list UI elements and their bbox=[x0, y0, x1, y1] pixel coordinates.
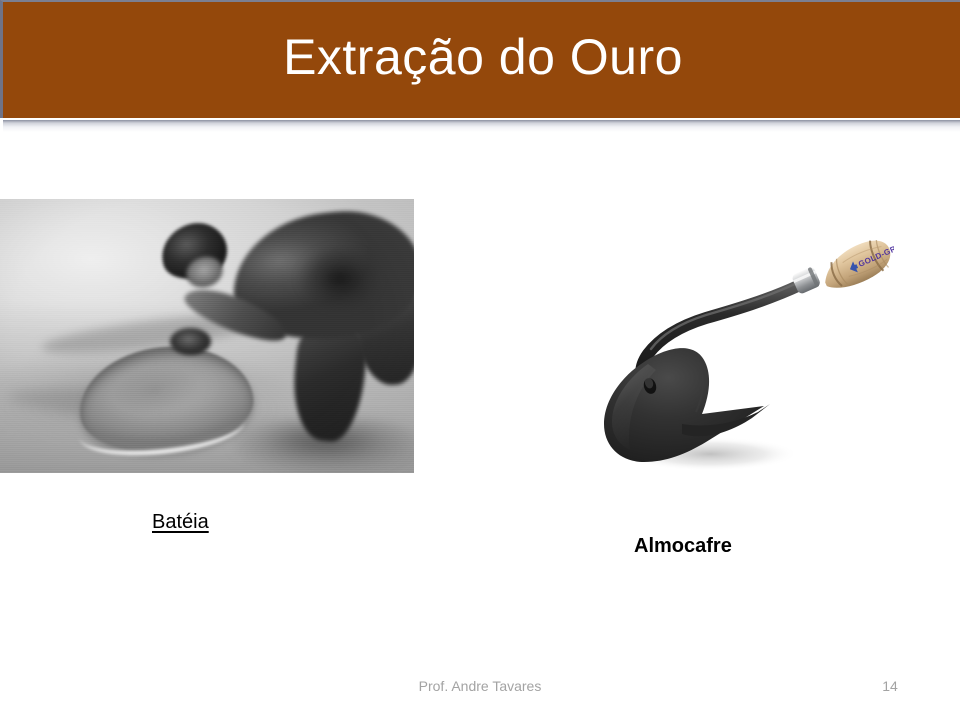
footer-page-number: 14 bbox=[860, 678, 920, 694]
page-title: Extração do Ouro bbox=[3, 26, 960, 88]
slide-canvas: Extração do Ouro Batéia bbox=[0, 0, 960, 720]
almocafre-handle: GOLD-GRIP bbox=[817, 228, 894, 296]
title-banner: Extração do Ouro bbox=[0, 0, 960, 118]
almocafre-caption: Almocafre bbox=[634, 535, 732, 558]
photo-vignette bbox=[0, 199, 414, 473]
footer-author: Prof. Andre Tavares bbox=[0, 678, 960, 694]
bateia-photograph bbox=[0, 199, 414, 473]
bateia-caption: Batéia bbox=[152, 511, 209, 534]
almocafre-image: GOLD-GRIP bbox=[582, 228, 894, 480]
